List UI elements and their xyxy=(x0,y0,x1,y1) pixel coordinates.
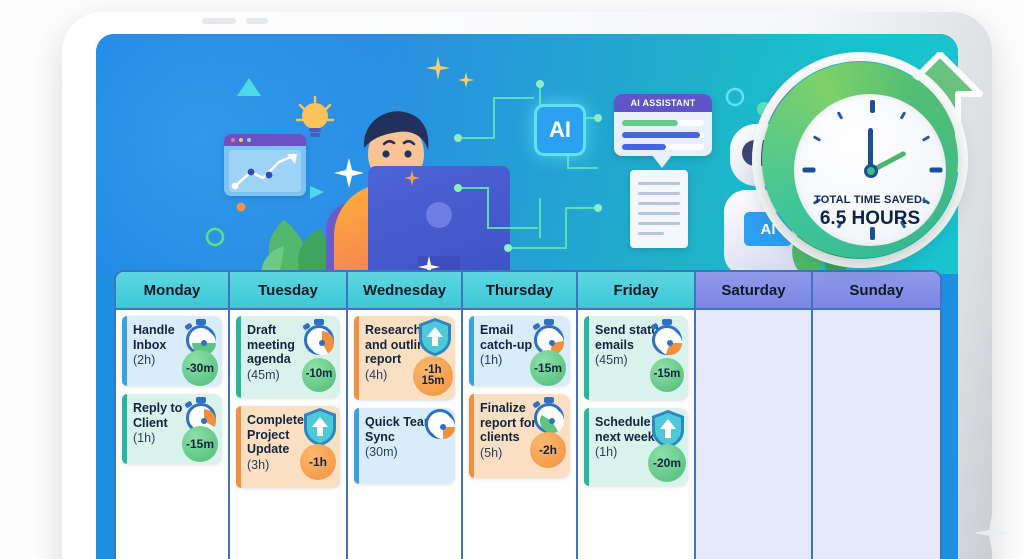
sparkle-icon xyxy=(334,158,364,188)
time-saved-value: 6.5 HOURS xyxy=(794,208,946,230)
day-header-saturday[interactable]: Saturday xyxy=(696,272,813,310)
event-card[interactable]: Reply to Client (1h) -15m xyxy=(122,394,222,464)
clock-face: TOTAL TIME SAVED: 6.5 HOURS xyxy=(794,94,946,246)
triangle-small-icon xyxy=(308,184,326,200)
doc-line xyxy=(638,232,664,235)
clock-tick-minor xyxy=(900,111,907,119)
sparkle-icon xyxy=(426,56,450,80)
tablet-top-button-a[interactable] xyxy=(202,18,236,24)
event-accent-bar xyxy=(122,316,127,386)
event-card[interactable]: Complete Project Update (3h) -1h xyxy=(236,406,340,488)
event-card[interactable]: Research and outline report (4h) -1h 15m xyxy=(354,316,455,400)
clock-tick-minor xyxy=(837,111,844,119)
stopwatch-icon xyxy=(302,318,336,354)
time-saved-badge: -15m xyxy=(650,358,684,392)
time-saved-badge: -20m xyxy=(648,444,686,482)
window-dot-red xyxy=(231,138,235,142)
event-card[interactable]: Schedule next week (1h) -20m xyxy=(584,408,688,486)
ai-assistant-bubble-title: AI ASSISTANT xyxy=(614,94,712,112)
doc-line xyxy=(638,182,680,185)
weekly-calendar: Monday Tuesday Wednesday Thursday Friday… xyxy=(114,270,942,559)
time-saved-badge: -15m xyxy=(182,426,218,462)
stopwatch-icon xyxy=(184,318,218,354)
circle-outline-icon xyxy=(204,226,226,248)
event-accent-bar xyxy=(584,316,589,400)
window-chart-area xyxy=(229,150,301,192)
time-saved-badge: -10m xyxy=(302,358,336,392)
sparkle-icon xyxy=(404,170,420,186)
clock-tick-minor xyxy=(922,135,930,142)
analytics-window-icon xyxy=(224,134,306,196)
window-dot-yellow xyxy=(239,138,243,142)
time-saved-badge: -1h 15m xyxy=(413,356,453,396)
growth-line-icon xyxy=(229,150,301,192)
day-column-sunday[interactable] xyxy=(813,310,940,559)
event-card[interactable]: Handle Inbox (2h) -30m xyxy=(122,316,222,386)
stopwatch-icon xyxy=(532,318,566,354)
doc-line xyxy=(638,202,680,205)
shield-up-icon xyxy=(302,407,338,447)
day-column-wednesday: Research and outline report (4h) -1h 15m… xyxy=(348,310,463,559)
ai-assistant-bubble: AI ASSISTANT xyxy=(614,94,712,156)
doc-line xyxy=(638,212,680,215)
calendar-body-row: Handle Inbox (2h) -30m Reply to Client (… xyxy=(116,310,940,559)
event-card[interactable]: Draft meeting agenda (45m) -10m xyxy=(236,316,340,398)
total-time-saved-badge: TOTAL TIME SAVED: 6.5 HOURS xyxy=(752,52,988,268)
window-dot-green xyxy=(247,138,251,142)
day-column-saturday[interactable] xyxy=(696,310,813,559)
clock-center-pin xyxy=(864,164,878,178)
bubble-line-fill-2 xyxy=(622,132,700,138)
event-accent-bar xyxy=(354,408,359,484)
day-header-wednesday[interactable]: Wednesday xyxy=(348,272,463,310)
stopwatch-icon xyxy=(532,396,566,432)
circle-outline-icon-2 xyxy=(724,86,746,108)
shield-up-icon xyxy=(417,317,453,357)
event-card[interactable]: Quick Team Sync (30m) xyxy=(354,408,455,484)
event-accent-bar xyxy=(236,316,241,398)
ai-chip-icon: AI xyxy=(534,104,586,156)
clock-progress-ring: TOTAL TIME SAVED: 6.5 HOURS xyxy=(762,62,958,258)
event-card[interactable]: Email catch-up (1h) -15m xyxy=(469,316,570,386)
event-accent-bar xyxy=(584,408,589,486)
event-accent-bar xyxy=(469,394,474,478)
day-column-thursday: Email catch-up (1h) -15m Finalize report… xyxy=(463,310,578,559)
clock-tick-major xyxy=(870,100,875,113)
window-titlebar xyxy=(224,134,306,146)
event-duration: (30m) xyxy=(365,445,447,460)
day-header-tuesday[interactable]: Tuesday xyxy=(230,272,348,310)
clock-tick-major xyxy=(803,168,816,173)
doc-line xyxy=(638,222,680,225)
sparkle-icon xyxy=(458,72,474,88)
shield-up-icon xyxy=(650,409,686,449)
screenshot-root: AI AI ASSISTANT xyxy=(0,0,1024,559)
calendar-header-row: Monday Tuesday Wednesday Thursday Friday… xyxy=(116,272,940,310)
time-saved-label: TOTAL TIME SAVED: xyxy=(794,194,946,206)
day-column-tuesday: Draft meeting agenda (45m) -10m Complete… xyxy=(230,310,348,559)
lightbulb-icon xyxy=(296,96,334,146)
clock-icon xyxy=(423,402,457,438)
sparkle-icon-corner xyxy=(972,513,1012,553)
event-accent-bar xyxy=(236,406,241,488)
bubble-line-fill-3 xyxy=(622,144,666,150)
clock-tick-major xyxy=(930,168,943,173)
tablet-top-button-b[interactable] xyxy=(246,18,268,24)
time-saved-badge: -30m xyxy=(182,350,218,386)
day-header-sunday[interactable]: Sunday xyxy=(813,272,940,310)
triangle-icon xyxy=(236,76,262,98)
event-card[interactable]: Send status emails (45m) -15m xyxy=(584,316,688,400)
day-header-monday[interactable]: Monday xyxy=(116,272,230,310)
bubble-line-fill-1 xyxy=(622,120,678,126)
day-column-monday: Handle Inbox (2h) -30m Reply to Client (… xyxy=(116,310,230,559)
day-header-thursday[interactable]: Thursday xyxy=(463,272,578,310)
bubble-tail xyxy=(652,155,672,168)
stopwatch-icon xyxy=(650,318,684,354)
dot-icon xyxy=(236,202,246,212)
day-column-friday: Send status emails (45m) -15m Schedule n… xyxy=(578,310,696,559)
ai-chip-label: AI xyxy=(549,117,571,143)
document-icon xyxy=(630,170,688,248)
time-saved-badge: -15m xyxy=(530,350,566,386)
clock-tick-minor xyxy=(813,135,821,142)
day-header-friday[interactable]: Friday xyxy=(578,272,696,310)
event-card[interactable]: Finalize report for clients (5h) -2h xyxy=(469,394,570,478)
time-saved-badge: -2h xyxy=(530,432,566,468)
event-accent-bar xyxy=(469,316,474,386)
doc-line xyxy=(638,192,680,195)
event-accent-bar xyxy=(354,316,359,400)
time-saved-badge: -1h xyxy=(300,444,336,480)
event-accent-bar xyxy=(122,394,127,464)
